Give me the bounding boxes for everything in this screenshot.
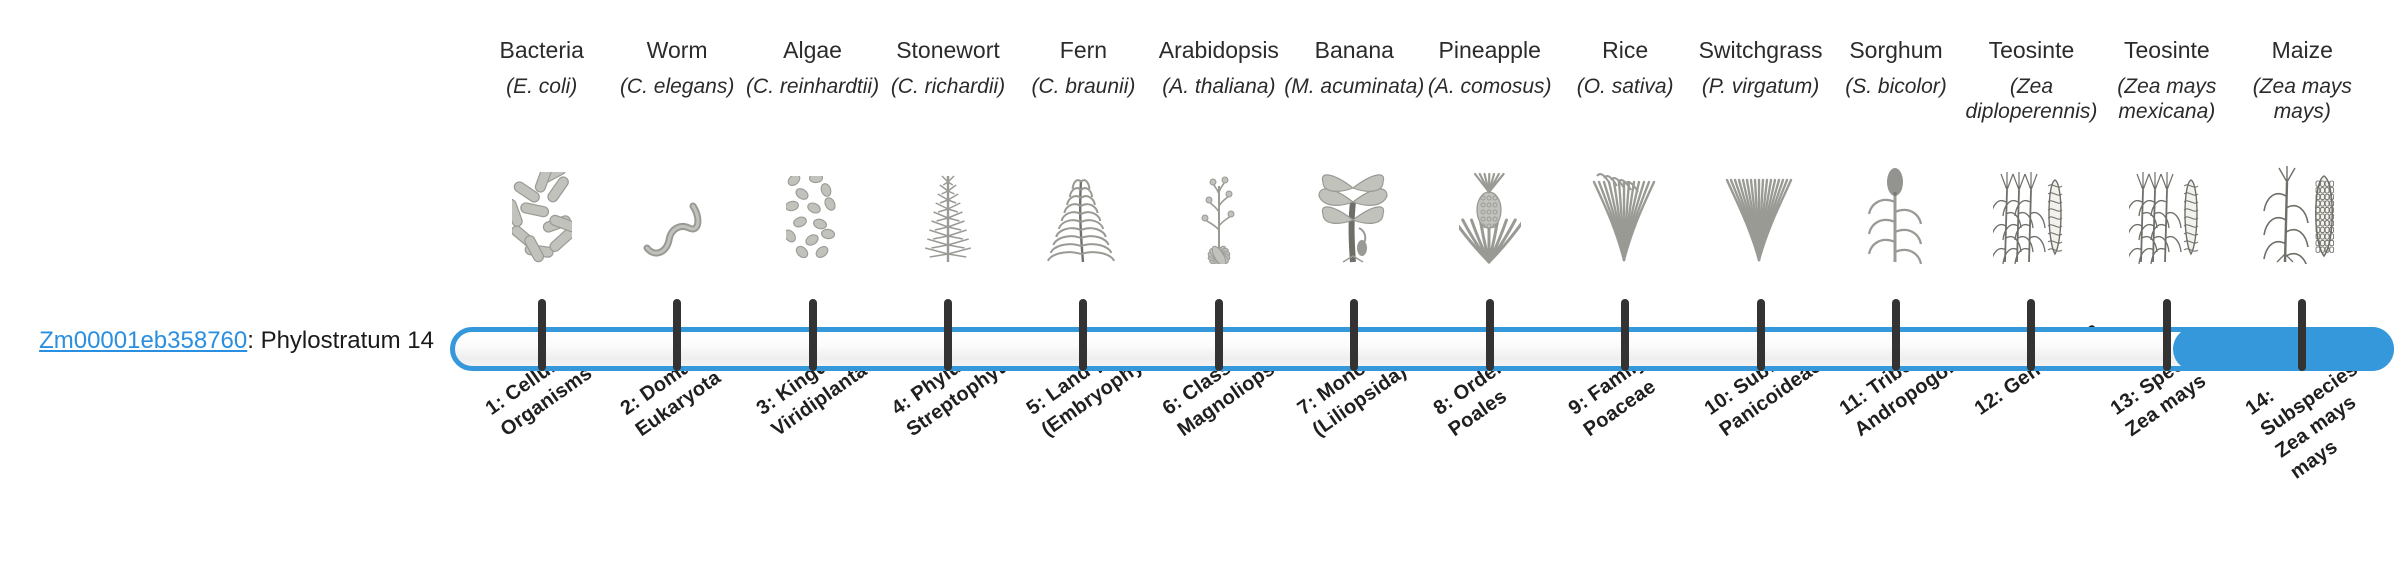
species-latin-name: (C. richardii) bbox=[874, 74, 1021, 99]
phylostratum-value: Phylostratum 14 bbox=[261, 327, 434, 354]
green-algae-cells-illustration bbox=[745, 168, 880, 264]
teosinte-plant-and-ear-illustration bbox=[1964, 168, 2099, 264]
fern-frond-illustration bbox=[1016, 168, 1151, 264]
phylostratum-tick-3 bbox=[809, 299, 817, 371]
species-column: Maize (Zea mays mays) 14: Subspecies: Ze… bbox=[2235, 0, 2370, 580]
species-common-name: Rice bbox=[1551, 36, 1698, 64]
pineapple-plant-illustration bbox=[1422, 168, 1557, 264]
species-common-name: Stonewort bbox=[874, 36, 1021, 64]
species-common-name: Switchgrass bbox=[1687, 36, 1834, 64]
species-common-name: Teosinte bbox=[1958, 36, 2105, 64]
species-column: Teosinte (Zea diploperennis) 12: Genus: … bbox=[1964, 0, 2099, 580]
species-common-name: Bacteria bbox=[468, 36, 615, 64]
species-name-block: Sorghum (S. bicolor) bbox=[1822, 36, 1969, 99]
species-name-block: Banana (M. acuminata) bbox=[1281, 36, 1428, 99]
banana-plant-illustration bbox=[1287, 168, 1422, 264]
species-latin-name: (S. bicolor) bbox=[1822, 74, 1969, 99]
row-label: Zm00001eb358760: Phylostratum 14 bbox=[0, 326, 460, 356]
species-common-name: Sorghum bbox=[1822, 36, 1969, 64]
phylostratum-tick-1 bbox=[538, 299, 546, 371]
species-name-block: Maize (Zea mays mays) bbox=[2229, 36, 2376, 124]
species-latin-name: (C. reinhardtii) bbox=[739, 74, 886, 99]
species-column: Arabidopsis (A. thaliana) 6: Class: Magn… bbox=[1151, 0, 1286, 580]
phylostratum-tick-9 bbox=[1621, 299, 1629, 371]
species-common-name: Algae bbox=[739, 36, 886, 64]
phylostratum-tick-8 bbox=[1486, 299, 1494, 371]
species-name-block: Teosinte (Zea mays mexicana) bbox=[2093, 36, 2240, 124]
species-column: Stonewort (C. richardii) 4: Phylum: Stre… bbox=[880, 0, 1015, 580]
species-name-block: Worm (C. elegans) bbox=[603, 36, 750, 99]
phylostratum-tick-7 bbox=[1350, 299, 1358, 371]
species-column: Bacteria (E. coli) 1: Cellular Organisms bbox=[474, 0, 609, 580]
species-column: Switchgrass (P. virgatum) 10: Subfamily:… bbox=[1693, 0, 1828, 580]
species-common-name: Maize bbox=[2229, 36, 2376, 64]
species-column: Teosinte (Zea mays mexicana) 13: Species… bbox=[2099, 0, 2234, 580]
species-latin-name: (A. comosus) bbox=[1416, 74, 1563, 99]
species-name-block: Arabidopsis (A. thaliana) bbox=[1145, 36, 1292, 99]
phylostratum-tick-11 bbox=[1892, 299, 1900, 371]
species-latin-name: (M. acuminata) bbox=[1281, 74, 1428, 99]
species-name-block: Fern (C. braunii) bbox=[1010, 36, 1157, 99]
species-column: Banana (M. acuminata) 7: Monocots (Lilio… bbox=[1287, 0, 1422, 580]
nematode-worm-illustration bbox=[609, 168, 744, 264]
species-common-name: Teosinte bbox=[2093, 36, 2240, 64]
progress-track bbox=[450, 327, 2394, 371]
bacteria-rods-illustration bbox=[474, 168, 609, 264]
species-latin-name: (Zea diploperennis) bbox=[1958, 74, 2105, 124]
phylostratum-tick-10 bbox=[1757, 299, 1765, 371]
species-common-name: Fern bbox=[1010, 36, 1157, 64]
teosinte-plant-and-ear-illustration bbox=[2099, 168, 2234, 264]
species-column: Pineapple (A. comosus) 8: Order: Poales bbox=[1422, 0, 1557, 580]
species-latin-name: (O. sativa) bbox=[1551, 74, 1698, 99]
species-common-name: Pineapple bbox=[1416, 36, 1563, 64]
species-latin-name: (Zea mays mexicana) bbox=[2093, 74, 2240, 124]
rice-plant-illustration bbox=[1557, 168, 1692, 264]
species-latin-name: (C. elegans) bbox=[603, 74, 750, 99]
species-latin-name: (Zea mays mays) bbox=[2229, 74, 2376, 124]
phylostratum-figure: Zm00001eb358760: Phylostratum 14 Bacteri… bbox=[0, 0, 2400, 580]
species-latin-name: (P. virgatum) bbox=[1687, 74, 1834, 99]
species-columns: Bacteria (E. coli) 1: Cellular Organisms… bbox=[474, 0, 2370, 580]
phylostratum-progress-bar[interactable] bbox=[450, 327, 2394, 371]
phylostratum-tick-6 bbox=[1215, 299, 1223, 371]
species-column: Worm (C. elegans) 2: Domain: Eukaryota bbox=[609, 0, 744, 580]
phylostratum-tick-12 bbox=[2027, 299, 2035, 371]
phylostratum-tick-13 bbox=[2163, 299, 2171, 371]
species-latin-name: (A. thaliana) bbox=[1145, 74, 1292, 99]
species-common-name: Worm bbox=[603, 36, 750, 64]
label-separator: : bbox=[247, 327, 260, 354]
species-name-block: Stonewort (C. richardii) bbox=[874, 36, 1021, 99]
gene-id-link[interactable]: Zm00001eb358760 bbox=[39, 327, 247, 354]
species-name-block: Rice (O. sativa) bbox=[1551, 36, 1698, 99]
sorghum-plant-illustration bbox=[1828, 168, 1963, 264]
species-name-block: Pineapple (A. comosus) bbox=[1416, 36, 1563, 99]
species-name-block: Switchgrass (P. virgatum) bbox=[1687, 36, 1834, 99]
arabidopsis-plant-illustration bbox=[1151, 168, 1286, 264]
species-name-block: Teosinte (Zea diploperennis) bbox=[1958, 36, 2105, 124]
species-column: Rice (O. sativa) 9: Family: Poaceae bbox=[1557, 0, 1692, 580]
species-name-block: Algae (C. reinhardtii) bbox=[739, 36, 886, 99]
species-column: Algae (C. reinhardtii) 3: Kingdom: Virid… bbox=[745, 0, 880, 580]
species-latin-name: (C. braunii) bbox=[1010, 74, 1157, 99]
switchgrass-plant-illustration bbox=[1693, 168, 1828, 264]
stonewort-alga-illustration bbox=[880, 168, 1015, 264]
species-column: Fern (C. braunii) 5: Land plants (Embryo… bbox=[1016, 0, 1151, 580]
phylostratum-tick-5 bbox=[1079, 299, 1087, 371]
progress-fill bbox=[2173, 327, 2394, 371]
species-common-name: Arabidopsis bbox=[1145, 36, 1292, 64]
species-column: Sorghum (S. bicolor) 11: Tribe: Andropog… bbox=[1828, 0, 1963, 580]
maize-plant-and-cob-illustration bbox=[2235, 168, 2370, 264]
phylostratum-tick-2 bbox=[673, 299, 681, 371]
species-common-name: Banana bbox=[1281, 36, 1428, 64]
species-latin-name: (E. coli) bbox=[468, 74, 615, 99]
species-name-block: Bacteria (E. coli) bbox=[468, 36, 615, 99]
phylostratum-tick-14 bbox=[2298, 299, 2306, 371]
phylostratum-tick-4 bbox=[944, 299, 952, 371]
